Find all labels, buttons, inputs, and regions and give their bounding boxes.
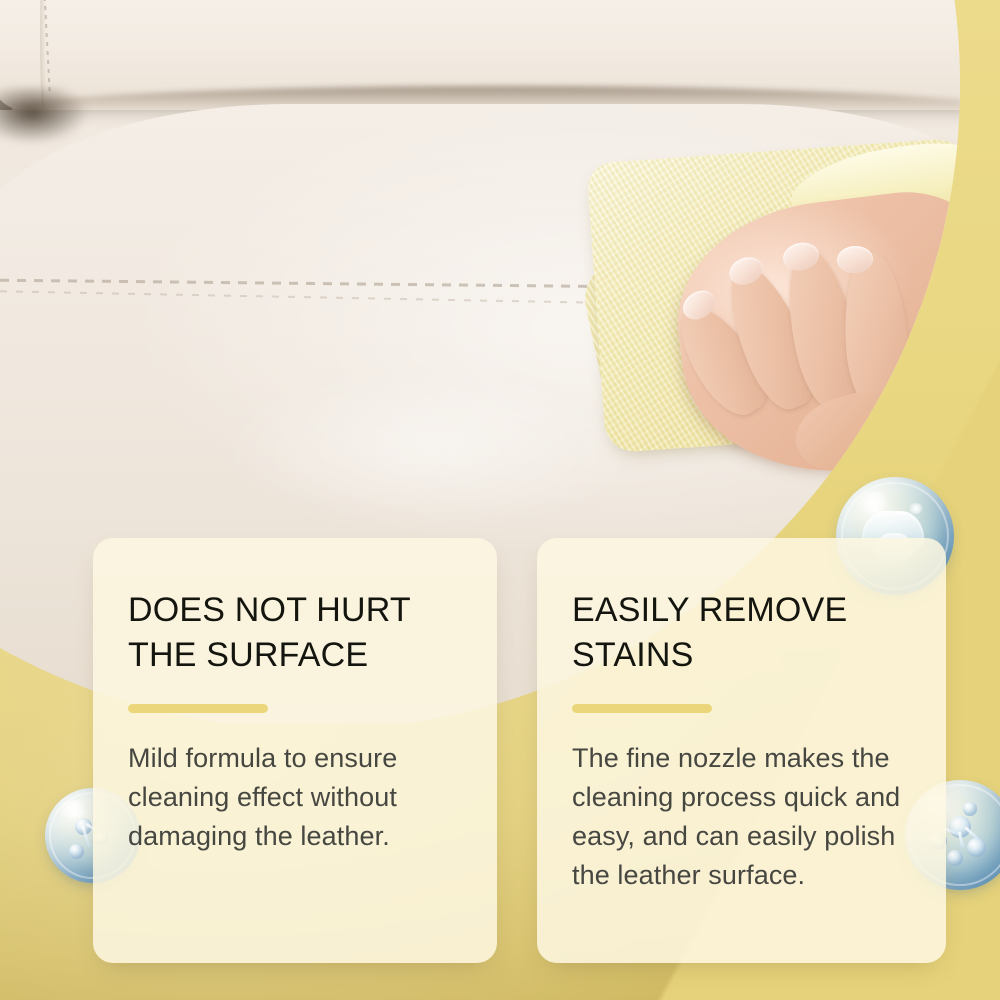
droplet-node xyxy=(69,844,84,859)
molecule-node xyxy=(947,850,963,866)
bubble-highlight xyxy=(856,491,890,513)
feature-card-does-not-hurt-the-surface: DOES NOT HURT THE SURFACE Mild formula t… xyxy=(93,538,497,963)
card-content: EASILY REMOVE STAINS The fine nozzle mak… xyxy=(572,588,920,895)
card-title: EASILY REMOVE STAINS xyxy=(572,588,920,678)
molecule-node xyxy=(963,802,977,816)
feature-panel: DOES NOT HURT THE SURFACE Mild formula t… xyxy=(0,0,1000,1000)
card-divider xyxy=(128,704,268,713)
bubble-highlight-small xyxy=(908,503,924,514)
feature-card-easily-remove-stains: EASILY REMOVE STAINS The fine nozzle mak… xyxy=(537,538,946,963)
card-title: DOES NOT HURT THE SURFACE xyxy=(128,588,471,678)
card-content: DOES NOT HURT THE SURFACE Mild formula t… xyxy=(128,588,471,856)
card-divider xyxy=(572,704,712,713)
bubble-highlight xyxy=(59,800,87,818)
card-description: The fine nozzle makes the cleaning proce… xyxy=(572,739,920,895)
molecule-node xyxy=(967,838,986,857)
card-description: Mild formula to ensure cleaning effect w… xyxy=(128,739,471,856)
